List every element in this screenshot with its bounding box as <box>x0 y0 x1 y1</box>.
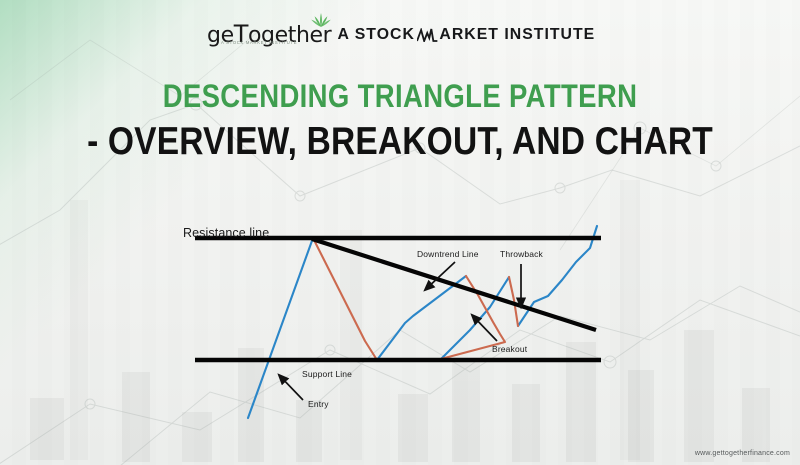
label-breakout: Breakout <box>492 344 527 354</box>
pattern-chart <box>0 0 800 465</box>
label-downtrend-line: Downtrend Line <box>417 249 479 259</box>
entry-arrow <box>279 375 303 400</box>
breakout-arrow <box>472 315 497 341</box>
label-entry: Entry <box>308 399 329 409</box>
label-support-line: Support Line <box>302 369 352 379</box>
price-down-legs <box>313 238 518 360</box>
footer-website-url: www.gettogetherfinance.com <box>695 450 790 457</box>
label-throwback: Throwback <box>500 249 543 259</box>
label-resistance-line: Resistance line <box>183 226 269 240</box>
infographic-canvas: geTogether A STOCK MARKET INSTITUTE A ST… <box>0 0 800 465</box>
